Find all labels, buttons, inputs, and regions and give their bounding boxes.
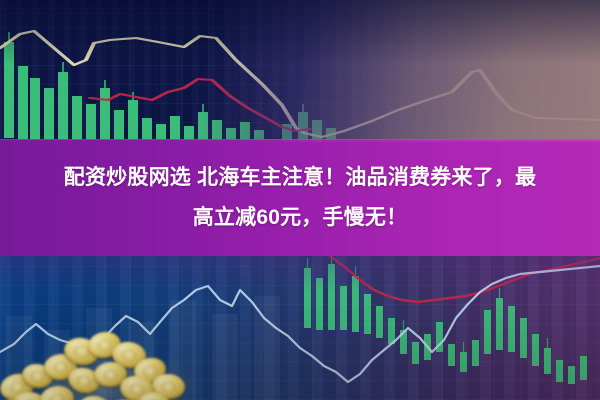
top-chart-panel	[0, 0, 600, 142]
bottom-chart-panel	[0, 256, 600, 400]
bottom-gradient-overlay	[0, 256, 600, 400]
headline-line-1: 配资炒股网选 北海车主注意！油品消费券来了，最	[64, 159, 536, 197]
headline-text-block: 配资炒股网选 北海车主注意！油品消费券来了，最 高立减60元，手慢无！	[0, 139, 600, 256]
headline-line-2: 高立减60元，手慢无！	[193, 199, 408, 237]
banner-image: 配资炒股网选 北海车主注意！油品消费券来了，最 高立减60元，手慢无！	[0, 0, 600, 400]
top-vertical-shade	[0, 0, 600, 142]
